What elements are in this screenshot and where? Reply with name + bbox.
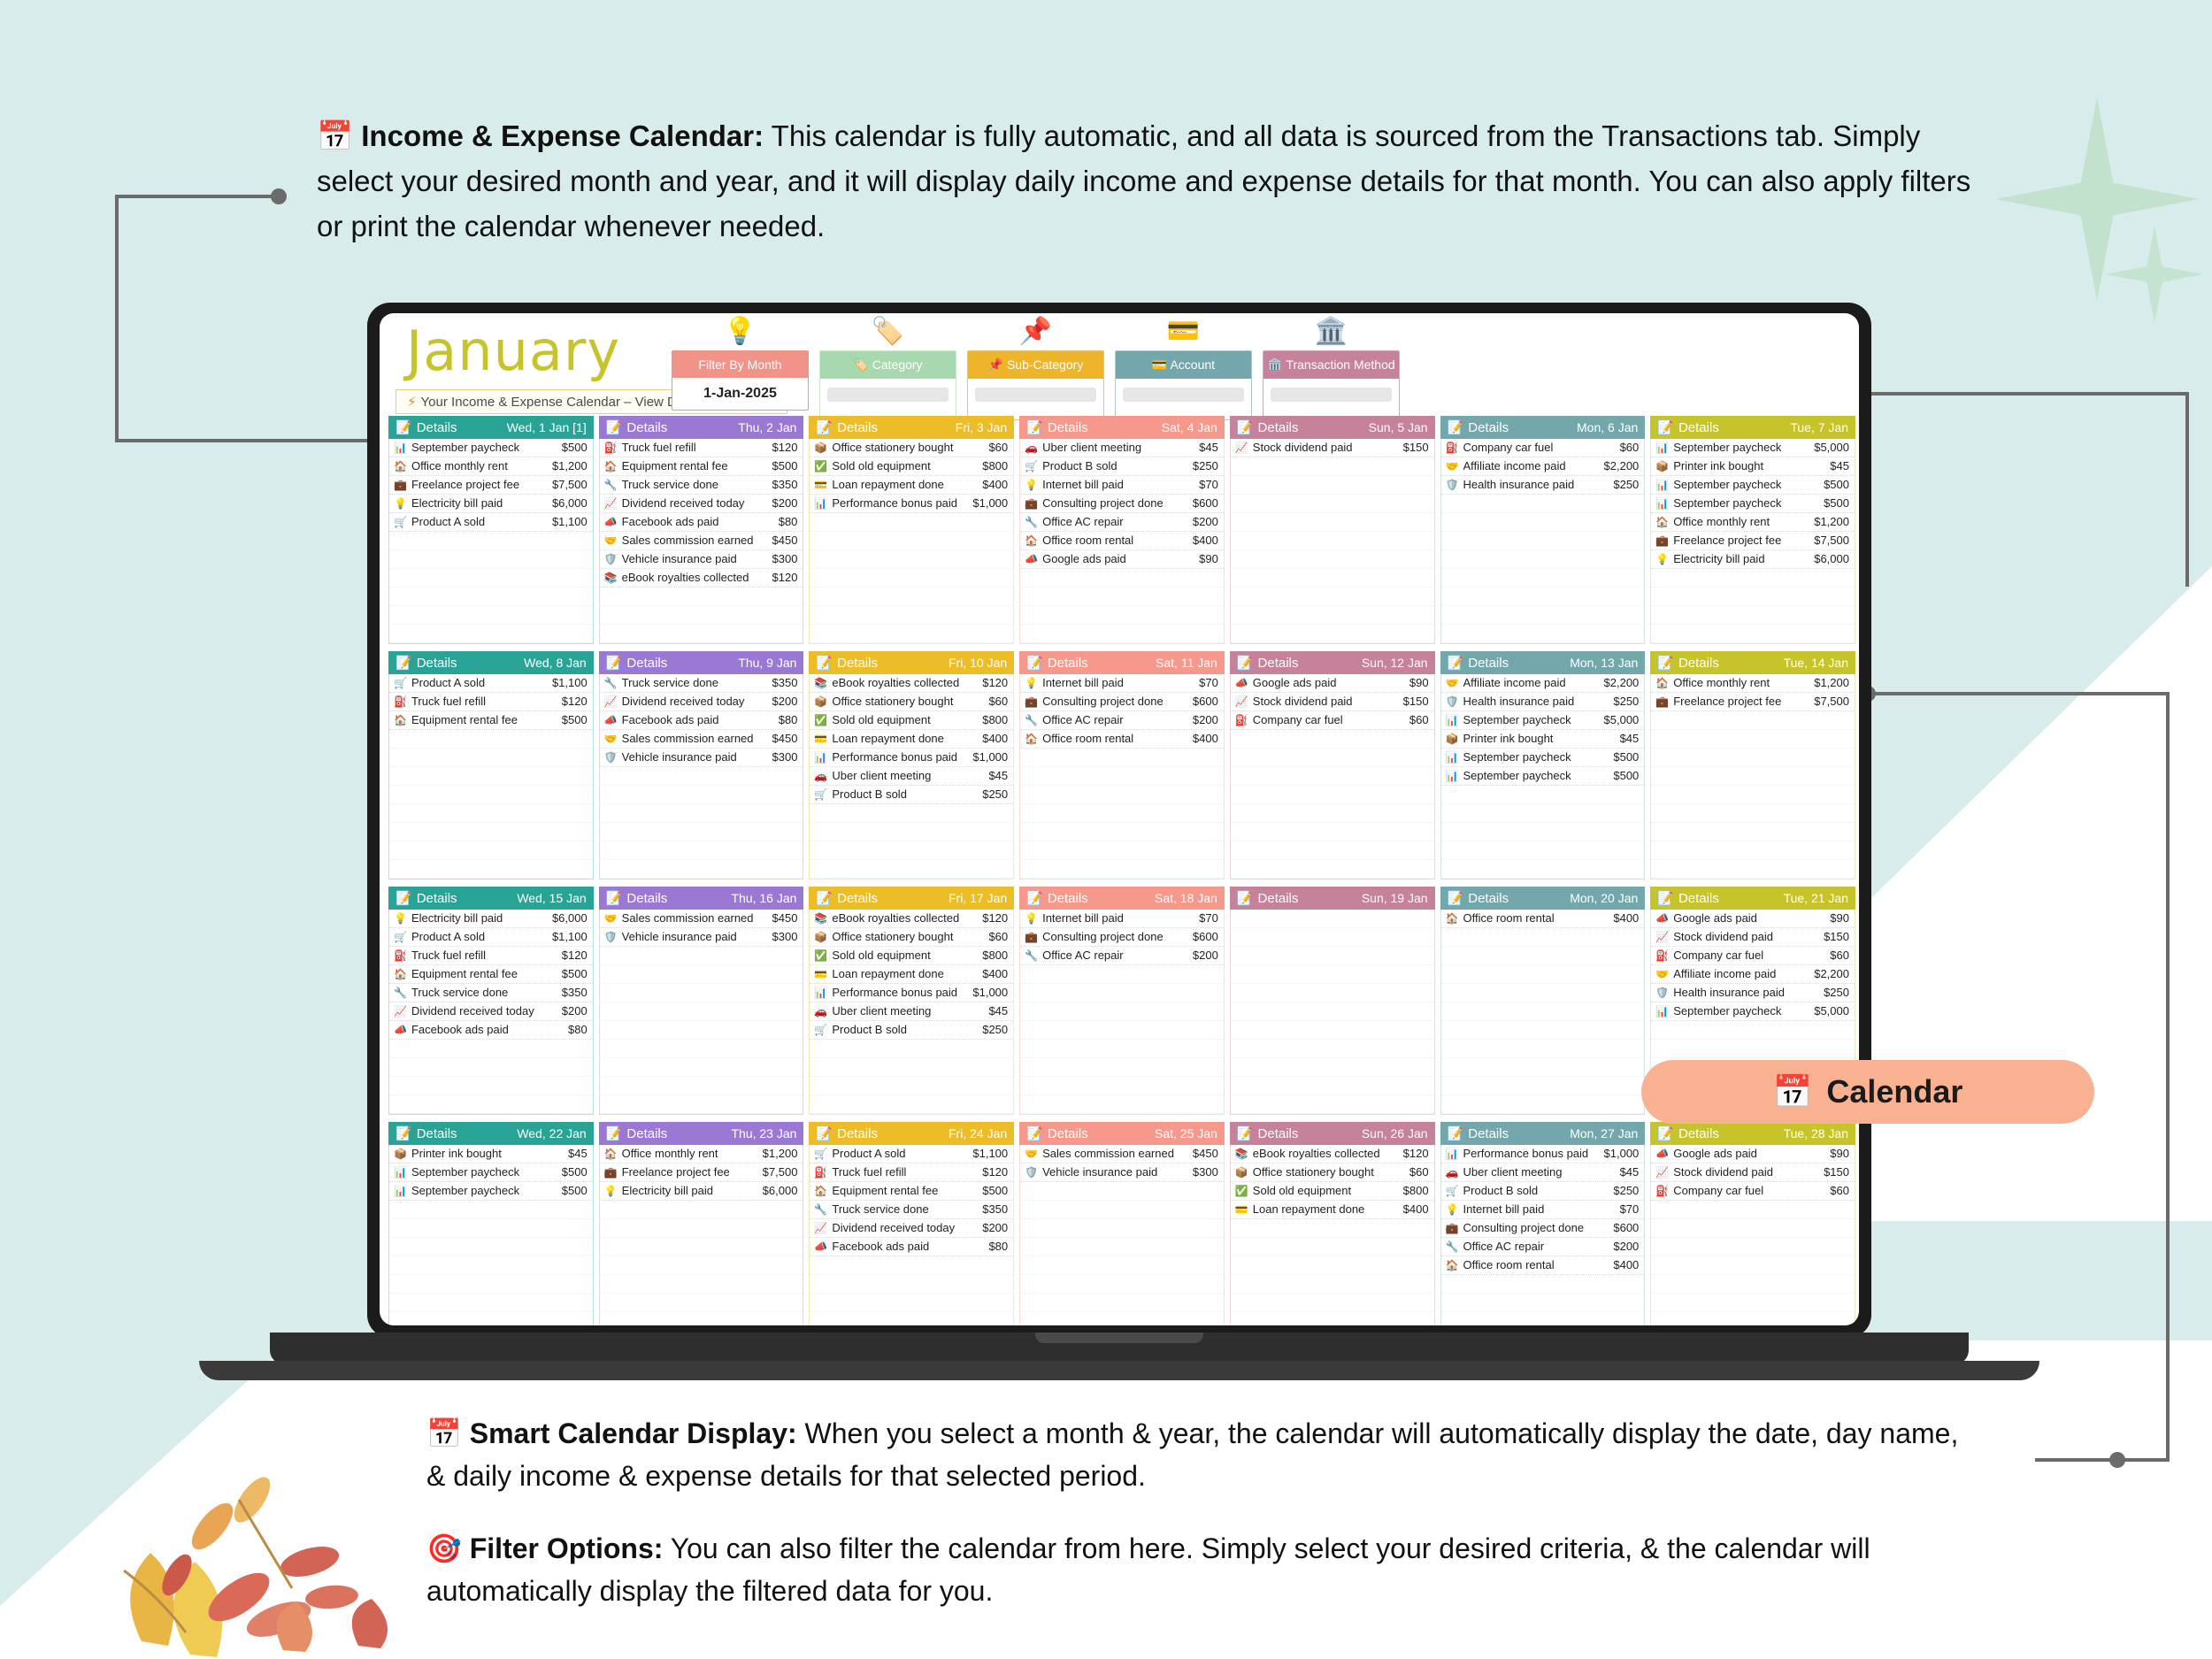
transaction-name: Consulting project done (1042, 695, 1188, 709)
transaction-name: Consulting project done (1042, 931, 1188, 944)
transaction-row[interactable]: 💡Internet bill paid$70 (1441, 1201, 1645, 1219)
transaction-amount: $1,100 (552, 515, 588, 528)
details-label: Details (626, 1126, 667, 1141)
note-icon: 📝 (1448, 1125, 1464, 1141)
transaction-row[interactable]: 🛒Product A sold$1,100 (810, 1145, 1013, 1164)
transaction-row[interactable]: 🚗Uber client meeting$45 (1020, 439, 1224, 457)
transaction-amount: $90 (1830, 911, 1849, 925)
transaction-row[interactable]: 📊Performance bonus paid$1,000 (810, 984, 1013, 1002)
transaction-row[interactable]: 🏠Office monthly rent$1,200 (1651, 674, 1855, 693)
transaction-category-icon: ⛽ (604, 442, 618, 454)
note-icon: 📝 (396, 890, 412, 906)
transaction-row[interactable]: 📣Google ads paid$90 (1651, 910, 1855, 928)
transaction-name: Internet bill paid (1042, 912, 1194, 926)
note-icon: 📝 (1448, 890, 1464, 906)
transaction-name: Truck fuel refill (832, 1166, 978, 1179)
transaction-row[interactable]: ⛽Company car fuel$60 (1441, 439, 1645, 457)
transaction-row[interactable]: 💡Internet bill paid$70 (1020, 674, 1224, 693)
transaction-row[interactable]: 📊Performance bonus paid$1,000 (1441, 1145, 1645, 1164)
transaction-row[interactable]: 📊September paycheck$500 (1651, 495, 1855, 513)
transaction-row[interactable]: 💼Consulting project done$600 (1020, 693, 1224, 711)
transaction-row[interactable]: 🛒Product B sold$250 (1020, 457, 1224, 476)
calendar-day-body: 📣Google ads paid$90📈Stock dividend paid$… (1230, 674, 1435, 879)
transaction-row[interactable]: 🔧Truck service done$350 (600, 674, 803, 693)
transaction-amount: $250 (1613, 1184, 1639, 1197)
transaction-category-icon: 🛡️ (1446, 479, 1459, 491)
calendar-day-cell[interactable]: 📝DetailsSat, 18 Jan💡Internet bill paid$7… (1019, 887, 1225, 1115)
transaction-row[interactable]: 📈Stock dividend paid$150 (1651, 1164, 1855, 1182)
transaction-row[interactable]: 🤝Affiliate income paid$2,200 (1651, 965, 1855, 984)
transaction-row[interactable]: 🏠Office room rental$400 (1020, 532, 1224, 550)
transaction-row[interactable]: 🛒Product A sold$1,100 (389, 674, 593, 693)
empty-transaction-slot (389, 569, 593, 588)
empty-transaction-slot (389, 767, 593, 786)
transaction-row[interactable]: 📈Dividend received today$200 (810, 1219, 1013, 1238)
transaction-row[interactable]: 📊September paycheck$5,000 (1651, 439, 1855, 457)
transaction-category-icon: 🏠 (1446, 1259, 1459, 1271)
transaction-name: Sales commission earned (1042, 1148, 1188, 1161)
details-label-group: 📝Details (1026, 890, 1088, 906)
laptop-notch (1035, 1333, 1203, 1343)
transaction-row[interactable]: 🏠Office room rental$400 (1441, 910, 1645, 928)
transaction-row[interactable]: 🔧Office AC repair$200 (1020, 711, 1224, 730)
empty-transaction-slot (1231, 928, 1434, 947)
transaction-row[interactable]: 📈Stock dividend paid$150 (1231, 693, 1434, 711)
transaction-row[interactable]: ⛽Truck fuel refill$120 (810, 1164, 1013, 1182)
transaction-row[interactable]: 💼Consulting project done$600 (1441, 1219, 1645, 1238)
transaction-row[interactable]: 💳Loan repayment done$400 (810, 730, 1013, 749)
transaction-row[interactable]: 📦Printer ink bought$45 (1441, 730, 1645, 749)
transaction-row[interactable]: 📊September paycheck$500 (1651, 476, 1855, 495)
details-label-group: 📝Details (606, 1125, 668, 1141)
empty-transaction-slot (389, 749, 593, 767)
transaction-row[interactable]: 💡Internet bill paid$70 (1020, 476, 1224, 495)
empty-transaction-slot (1020, 588, 1224, 606)
empty-transaction-slot (1231, 1021, 1434, 1040)
transaction-row[interactable]: 💳Loan repayment done$400 (810, 965, 1013, 984)
transaction-amount: $60 (1409, 1165, 1429, 1179)
transaction-row[interactable]: 📦Printer ink bought$45 (1651, 457, 1855, 476)
transaction-name: Loan repayment done (832, 733, 978, 746)
transaction-row[interactable]: 📊September paycheck$5,000 (1441, 711, 1645, 730)
transaction-amount: $70 (1199, 478, 1218, 491)
transaction-row[interactable]: 📈Stock dividend paid$150 (1231, 439, 1434, 457)
transaction-category-icon: 📣 (1025, 553, 1038, 565)
transaction-row[interactable]: 📊September paycheck$5,000 (1651, 1002, 1855, 1021)
transaction-name: Office stationery bought (832, 695, 984, 709)
empty-transaction-slot (600, 1201, 803, 1219)
transaction-row[interactable]: 📈Stock dividend paid$150 (1651, 928, 1855, 947)
empty-transaction-slot (1020, 841, 1224, 860)
transaction-row[interactable]: 🚗Uber client meeting$45 (810, 767, 1013, 786)
calendar-day-cell[interactable]: 📝DetailsThu, 16 Jan🤝Sales commission ear… (599, 887, 804, 1115)
transaction-row[interactable]: ✅Sold old equipment$800 (810, 947, 1013, 965)
transaction-category-icon: 📊 (1446, 770, 1459, 782)
calendar-day-cell[interactable]: 📝DetailsFri, 10 Jan📚eBook royalties coll… (809, 651, 1014, 879)
empty-transaction-slot (600, 1275, 803, 1294)
calendar-day-cell[interactable]: 📝DetailsWed, 15 Jan💡Electricity bill pai… (388, 887, 594, 1115)
transaction-row[interactable]: ⛽Company car fuel$60 (1231, 711, 1434, 730)
transaction-category-icon: 🛒 (394, 677, 407, 689)
transaction-amount: $300 (772, 750, 798, 764)
calendar-day-cell[interactable]: 📝DetailsWed, 8 Jan🛒Product A sold$1,100⛽… (388, 651, 594, 879)
transaction-row[interactable]: ⛽Truck fuel refill$120 (389, 947, 593, 965)
details-label: Details (1048, 420, 1088, 435)
calendar-day-header: 📝DetailsFri, 17 Jan (809, 887, 1014, 910)
transaction-name: Loan repayment done (1253, 1203, 1399, 1217)
transaction-amount: $150 (1403, 441, 1429, 454)
transaction-row[interactable]: 🛒Product B sold$250 (1441, 1182, 1645, 1201)
calendar-day-header: 📝DetailsMon, 6 Jan (1440, 416, 1646, 439)
filter-box-category[interactable]: 🏷️ Category (819, 350, 956, 420)
transaction-row[interactable]: 🛡️Vehicle insurance paid$300 (600, 928, 803, 947)
transaction-amount: $350 (982, 1202, 1008, 1216)
calendar-day-body: 📚eBook royalties collected$120📦Office st… (1230, 1145, 1435, 1325)
empty-transaction-slot (1020, 1238, 1224, 1256)
transaction-category-icon: 📦 (1446, 733, 1459, 745)
transaction-row[interactable]: 📣Facebook ads paid$80 (600, 711, 803, 730)
filter-box-transaction-method[interactable]: 🏛️ Transaction Method (1263, 350, 1400, 420)
filter-label-transaction-method: 🏛️ Transaction Method (1263, 351, 1399, 379)
callout-line-right-down (2185, 392, 2189, 587)
transaction-row[interactable]: 🤝Sales commission earned$450 (600, 730, 803, 749)
transaction-name: Freelance project fee (1673, 534, 1809, 548)
transaction-row[interactable]: ✅Sold old equipment$800 (1231, 1182, 1434, 1201)
calendar-day-cell[interactable]: 📝DetailsSat, 4 Jan🚗Uber client meeting$4… (1019, 416, 1225, 644)
transaction-category-icon: 📦 (814, 442, 827, 454)
empty-transaction-slot (600, 588, 803, 606)
calendar-day-date: Wed, 15 Jan (517, 892, 586, 905)
calendar-day-body (1230, 910, 1435, 1115)
calendar-day-header: 📝DetailsTue, 28 Jan (1650, 1122, 1855, 1145)
calendar-day-cell[interactable]: 📝DetailsFri, 24 Jan🛒Product A sold$1,100… (809, 1122, 1014, 1325)
filter-input-field-transaction-method[interactable] (1271, 388, 1392, 402)
transaction-row[interactable]: ⛽Truck fuel refill$120 (600, 439, 803, 457)
transaction-amount: $1,000 (1604, 1147, 1640, 1160)
transaction-category-icon: 🛒 (814, 1024, 827, 1036)
transaction-row[interactable]: ⛽Company car fuel$60 (1651, 1182, 1855, 1201)
transaction-row[interactable]: 📚eBook royalties collected$120 (600, 569, 803, 588)
transaction-row[interactable]: 🛒Product B sold$250 (810, 1021, 1013, 1040)
transaction-amount: $500 (562, 441, 588, 454)
transaction-category-icon: 💳 (814, 479, 827, 491)
transaction-amount: $300 (772, 930, 798, 943)
filter-column-filter-by-month: 💡Filter By Month1-Jan-2025 (672, 313, 809, 420)
calendar-day-cell[interactable]: 📝DetailsSun, 19 Jan (1230, 887, 1435, 1115)
empty-transaction-slot (1231, 1275, 1434, 1294)
transaction-row[interactable]: 🏠Office monthly rent$1,200 (600, 1145, 803, 1164)
transaction-row[interactable]: 🚗Uber client meeting$45 (810, 1002, 1013, 1021)
transaction-amount: $70 (1199, 911, 1218, 925)
calendar-day-cell[interactable]: 📝DetailsMon, 13 Jan🤝Affiliate income pai… (1440, 651, 1646, 879)
transaction-row[interactable]: 💡Electricity bill paid$6,000 (389, 495, 593, 513)
transaction-amount: $200 (1193, 949, 1218, 962)
empty-transaction-slot (1441, 532, 1645, 550)
filter-input-category[interactable] (820, 388, 956, 419)
transaction-row[interactable]: ✅Sold old equipment$800 (810, 711, 1013, 730)
transaction-row[interactable]: 🏠Equipment rental fee$500 (810, 1182, 1013, 1201)
filter-input-sub-category[interactable] (968, 388, 1103, 419)
calendar-day-cell[interactable]: 📝DetailsWed, 22 Jan📦Printer ink bought$4… (388, 1122, 594, 1325)
calendar-day-cell[interactable]: 📝DetailsSun, 5 Jan📈Stock dividend paid$1… (1230, 416, 1435, 644)
empty-transaction-slot (1020, 749, 1224, 767)
transaction-row[interactable]: 🔧Office AC repair$200 (1441, 1238, 1645, 1256)
calendar-day-date: Thu, 16 Jan (731, 892, 796, 905)
transaction-row[interactable]: 📣Google ads paid$90 (1231, 674, 1434, 693)
transaction-row[interactable]: 🛡️Vehicle insurance paid$300 (1020, 1164, 1224, 1182)
empty-transaction-slot (600, 984, 803, 1002)
note-icon: 📝 (1026, 890, 1043, 906)
calendar-day-cell[interactable]: 📝DetailsMon, 27 Jan📊Performance bonus pa… (1440, 1122, 1646, 1325)
filter-input-account[interactable] (1116, 388, 1251, 419)
calendar-day-cell[interactable]: 📝DetailsTue, 7 Jan📊September paycheck$5,… (1650, 416, 1855, 644)
transaction-row[interactable]: 🛡️Vehicle insurance paid$300 (600, 550, 803, 569)
empty-transaction-slot (1651, 1238, 1855, 1256)
transaction-row[interactable]: 🛡️Health insurance paid$250 (1441, 693, 1645, 711)
calendar-day-cell[interactable]: 📝DetailsThu, 9 Jan🔧Truck service done$35… (599, 651, 804, 879)
transaction-row[interactable]: 📚eBook royalties collected$120 (810, 910, 1013, 928)
transaction-name: Office room rental (1463, 912, 1609, 926)
calendar-day-header: 📝DetailsMon, 27 Jan (1440, 1122, 1646, 1145)
transaction-category-icon: 📚 (604, 572, 618, 584)
calendar-day-cell[interactable]: 📝DetailsFri, 17 Jan📚eBook royalties coll… (809, 887, 1014, 1115)
empty-transaction-slot (810, 1312, 1013, 1325)
calendar-day-date: Wed, 22 Jan (517, 1127, 586, 1141)
transaction-name: Product B sold (832, 788, 978, 802)
transaction-category-icon: 📣 (604, 714, 618, 726)
transaction-row[interactable]: 📈Dividend received today$200 (600, 495, 803, 513)
transaction-name: Product B sold (1463, 1185, 1609, 1198)
transaction-row[interactable]: 📊Performance bonus paid$1,000 (810, 495, 1013, 513)
pin-icon: 📌 (967, 313, 1104, 350)
transaction-row[interactable]: 📣Facebook ads paid$80 (600, 513, 803, 532)
calendar-day-cell[interactable]: 📝DetailsMon, 20 Jan🏠Office room rental$4… (1440, 887, 1646, 1115)
transaction-row[interactable]: 🏠Equipment rental fee$500 (389, 965, 593, 984)
transaction-amount: $80 (779, 713, 798, 726)
transaction-name: Electricity bill paid (411, 912, 548, 926)
calendar-day-body: 🤝Affiliate income paid$2,200🛡️Health ins… (1440, 674, 1646, 879)
calendar-day-cell[interactable]: 📝DetailsFri, 3 Jan📦Office stationery bou… (809, 416, 1014, 644)
transaction-row[interactable]: 📊Performance bonus paid$1,000 (810, 749, 1013, 767)
transaction-row[interactable]: ✅Sold old equipment$800 (810, 457, 1013, 476)
calendar-day-cell[interactable]: 📝DetailsSun, 26 Jan📚eBook royalties coll… (1230, 1122, 1435, 1325)
transaction-name: Loan repayment done (832, 479, 978, 492)
filter-input-field-account[interactable] (1123, 388, 1244, 402)
calendar-day-body: 💡Internet bill paid$70💼Consulting projec… (1019, 910, 1225, 1115)
transaction-category-icon: 💼 (394, 479, 407, 491)
transaction-row[interactable]: 🛡️Health insurance paid$250 (1441, 476, 1645, 495)
filter-input-field-category[interactable] (827, 388, 949, 402)
transaction-row[interactable]: 🔧Office AC repair$200 (1020, 947, 1224, 965)
transaction-category-icon: 💳 (814, 968, 827, 980)
transaction-amount: $70 (1620, 1202, 1640, 1216)
transaction-amount: $90 (1409, 676, 1429, 689)
calendar-day-body: 📊September paycheck$500🏠Office monthly r… (388, 439, 594, 644)
calendar-day-cell[interactable]: 📝DetailsSat, 25 Jan🤝Sales commission ear… (1019, 1122, 1225, 1325)
empty-transaction-slot (1651, 1021, 1855, 1040)
transaction-row[interactable]: ⛽Truck fuel refill$120 (389, 693, 593, 711)
transaction-amount: $500 (1613, 769, 1639, 782)
filter-value-filter-by-month[interactable]: 1-Jan-2025 (672, 378, 808, 410)
transaction-name: Product B sold (832, 1024, 978, 1037)
calendar-day-body: 📣Google ads paid$90📈Stock dividend paid$… (1650, 1145, 1855, 1325)
filter-box-account[interactable]: 💳 Account (1115, 350, 1252, 420)
calendar-day-cell[interactable]: 📝DetailsMon, 6 Jan⛽Company car fuel$60🤝A… (1440, 416, 1646, 644)
transaction-row[interactable]: 🛡️Health insurance paid$250 (1651, 984, 1855, 1002)
calendar-day-header: 📝DetailsWed, 22 Jan (388, 1122, 594, 1145)
calendar-day-cell[interactable]: 📝DetailsSun, 12 Jan📣Google ads paid$90📈S… (1230, 651, 1435, 879)
transaction-row[interactable]: 💡Internet bill paid$70 (1020, 910, 1224, 928)
transaction-amount: $400 (1193, 732, 1218, 745)
calendar-day-cell[interactable]: 📝DetailsThu, 2 Jan⛽Truck fuel refill$120… (599, 416, 804, 644)
transaction-row[interactable]: 💡Electricity bill paid$6,000 (600, 1182, 803, 1201)
transaction-row[interactable]: 💼Freelance project fee$7,500 (389, 476, 593, 495)
transaction-amount: $600 (1193, 496, 1218, 510)
transaction-amount: $1,100 (972, 1147, 1008, 1160)
transaction-name: Stock dividend paid (1253, 695, 1399, 709)
transaction-row[interactable]: 🤝Sales commission earned$450 (1020, 1145, 1224, 1164)
transaction-category-icon: 🛡️ (604, 751, 618, 764)
transaction-row[interactable]: 💼Freelance project fee$7,500 (1651, 532, 1855, 550)
details-label: Details (417, 420, 457, 435)
transaction-row[interactable]: 💼Freelance project fee$7,500 (1651, 693, 1855, 711)
transaction-name: eBook royalties collected (832, 677, 978, 690)
callout-dot-bottom (2109, 1452, 2125, 1468)
empty-transaction-slot (389, 730, 593, 749)
calendar-day-date: Mon, 20 Jan (1570, 892, 1638, 905)
calendar-day-body: 💡Electricity bill paid$6,000🛒Product A s… (388, 910, 594, 1115)
transaction-row[interactable]: 📊September paycheck$500 (389, 1164, 593, 1182)
transaction-row[interactable]: 🛒Product A sold$1,100 (389, 928, 593, 947)
calendar-day-cell[interactable]: 📝DetailsTue, 28 Jan📣Google ads paid$90📈S… (1650, 1122, 1855, 1325)
transaction-row[interactable]: 🛒Product A sold$1,100 (389, 513, 593, 532)
transaction-amount: $200 (982, 1221, 1008, 1234)
empty-transaction-slot (1231, 984, 1434, 1002)
filter-input-transaction-method[interactable] (1263, 388, 1399, 419)
transaction-row[interactable]: 🚗Uber client meeting$45 (1441, 1164, 1645, 1182)
transaction-amount: $5,000 (1814, 1004, 1849, 1018)
transaction-row[interactable]: 💼Consulting project done$600 (1020, 928, 1224, 947)
empty-transaction-slot (1441, 984, 1645, 1002)
empty-transaction-slot (1231, 476, 1434, 495)
transaction-row[interactable]: 💡Electricity bill paid$6,000 (1651, 550, 1855, 569)
empty-transaction-slot (1020, 965, 1224, 984)
transaction-row[interactable]: 📚eBook royalties collected$120 (1231, 1145, 1434, 1164)
annotation-smart-bold: Smart Calendar Display: (470, 1417, 797, 1449)
transaction-row[interactable]: 🤝Sales commission earned$450 (600, 532, 803, 550)
transaction-row[interactable]: 🔧Truck service done$350 (600, 476, 803, 495)
transaction-row[interactable]: 🏠Equipment rental fee$500 (600, 457, 803, 476)
transaction-row[interactable]: 📊September paycheck$500 (1441, 767, 1645, 786)
transaction-row[interactable]: 🛡️Vehicle insurance paid$300 (600, 749, 803, 767)
transaction-row[interactable]: 📊September paycheck$500 (1441, 749, 1645, 767)
calendar-day-cell[interactable]: 📝DetailsTue, 14 Jan🏠Office monthly rent$… (1650, 651, 1855, 879)
transaction-category-icon: 📚 (814, 912, 827, 925)
filter-input-field-sub-category[interactable] (975, 388, 1096, 402)
empty-transaction-slot (1441, 1040, 1645, 1058)
transaction-row[interactable]: 🤝Sales commission earned$450 (600, 910, 803, 928)
transaction-category-icon: 📊 (394, 1166, 407, 1179)
transaction-row[interactable]: 💡Electricity bill paid$6,000 (389, 910, 593, 928)
transaction-category-icon: 📊 (1446, 714, 1459, 726)
transaction-row[interactable]: 🤝Affiliate income paid$2,200 (1441, 457, 1645, 476)
transaction-row[interactable]: 📈Dividend received today$200 (600, 693, 803, 711)
transaction-name: Office stationery bought (832, 442, 984, 455)
transaction-row[interactable]: 📦Printer ink bought$45 (389, 1145, 593, 1164)
transaction-row[interactable]: 💼Consulting project done$600 (1020, 495, 1224, 513)
transaction-row[interactable]: 📦Office stationery bought$60 (1231, 1164, 1434, 1182)
transaction-row[interactable]: 🔧Office AC repair$200 (1020, 513, 1224, 532)
transaction-row[interactable]: 🔧Truck service done$350 (810, 1201, 1013, 1219)
transaction-row[interactable]: 💳Loan repayment done$400 (1231, 1201, 1434, 1219)
transaction-name: Office AC repair (1042, 516, 1188, 529)
transaction-category-icon: 🤝 (1655, 968, 1669, 980)
transaction-row[interactable]: 🏠Office monthly rent$1,200 (1651, 513, 1855, 532)
transaction-name: Internet bill paid (1463, 1203, 1616, 1217)
empty-transaction-slot (1651, 841, 1855, 860)
transaction-category-icon: 📊 (394, 442, 407, 454)
filter-box-sub-category[interactable]: 📌 Sub-Category (967, 350, 1104, 420)
transaction-amount: $60 (1620, 441, 1640, 454)
details-label: Details (417, 891, 457, 906)
transaction-row[interactable]: 📦Office stationery bought$60 (810, 928, 1013, 947)
empty-transaction-slot (1231, 1040, 1434, 1058)
transaction-name: Loan repayment done (832, 968, 978, 981)
empty-transaction-slot (1441, 823, 1645, 841)
calendar-day-cell[interactable]: 📝DetailsThu, 23 Jan🏠Office monthly rent$… (599, 1122, 804, 1325)
transaction-row[interactable]: 🏠Office monthly rent$1,200 (389, 457, 593, 476)
details-label: Details (1468, 420, 1509, 435)
calendar-day-header: 📝DetailsMon, 13 Jan (1440, 651, 1646, 674)
transaction-row[interactable]: 📊September paycheck$500 (389, 439, 593, 457)
transaction-row[interactable]: 📦Office stationery bought$60 (810, 693, 1013, 711)
calendar-day-cell[interactable]: 📝DetailsWed, 1 Jan [1]📊September paychec… (388, 416, 594, 644)
filter-box-filter-by-month[interactable]: Filter By Month1-Jan-2025 (672, 350, 809, 411)
transaction-row[interactable]: 📣Facebook ads paid$80 (810, 1238, 1013, 1256)
transaction-row[interactable]: 🏠Equipment rental fee$500 (389, 711, 593, 730)
transaction-name: Stock dividend paid (1253, 442, 1399, 455)
transaction-row[interactable]: 💼Freelance project fee$7,500 (600, 1164, 803, 1182)
transaction-row[interactable]: 🏠Office room rental$400 (1441, 1256, 1645, 1275)
transaction-row[interactable]: 📣Google ads paid$90 (1020, 550, 1224, 569)
transaction-row[interactable]: 💳Loan repayment done$400 (810, 476, 1013, 495)
transaction-row[interactable]: 🤝Affiliate income paid$2,200 (1441, 674, 1645, 693)
transaction-row[interactable]: 📦Office stationery bought$60 (810, 439, 1013, 457)
transaction-row[interactable]: 📊September paycheck$500 (389, 1182, 593, 1201)
transaction-row[interactable]: 📚eBook royalties collected$120 (810, 674, 1013, 693)
transaction-row[interactable]: 🏠Office room rental$400 (1020, 730, 1224, 749)
transaction-category-icon: 📦 (1655, 460, 1669, 472)
note-icon: 📝 (1237, 890, 1254, 906)
transaction-amount: $120 (982, 676, 1008, 689)
transaction-category-icon: 💡 (1446, 1203, 1459, 1216)
empty-transaction-slot (1441, 1077, 1645, 1095)
transaction-name: Equipment rental fee (832, 1185, 978, 1198)
callout-line-top-horizontal (115, 195, 283, 198)
empty-transaction-slot (1020, 1256, 1224, 1275)
transaction-row[interactable]: 📣Facebook ads paid$80 (389, 1021, 593, 1040)
transaction-row[interactable]: 📣Google ads paid$90 (1651, 1145, 1855, 1164)
calendar-day-cell[interactable]: 📝DetailsSat, 11 Jan💡Internet bill paid$7… (1019, 651, 1225, 879)
transaction-amount: $500 (562, 713, 588, 726)
transaction-row[interactable]: 📈Dividend received today$200 (389, 1002, 593, 1021)
transaction-amount: $800 (982, 713, 1008, 726)
transaction-row[interactable]: ⛽Company car fuel$60 (1651, 947, 1855, 965)
transaction-row[interactable]: 🔧Truck service done$350 (389, 984, 593, 1002)
transaction-name: Performance bonus paid (832, 497, 968, 511)
transaction-row[interactable]: 🛒Product B sold$250 (810, 786, 1013, 804)
transaction-category-icon: 🚗 (1446, 1166, 1459, 1179)
